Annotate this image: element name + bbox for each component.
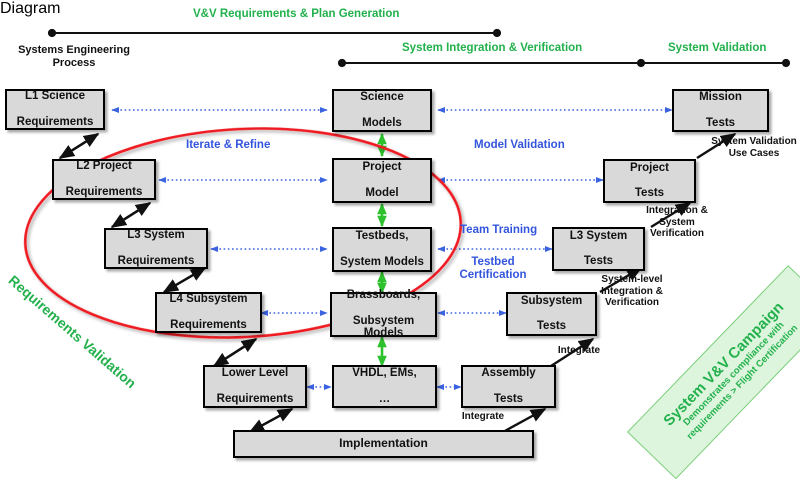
node-line1: Subsystem: [519, 295, 584, 308]
node-line2: Model: [361, 187, 404, 200]
node-line2: System Models: [338, 256, 426, 269]
systems-engineering-process-label: Systems Engineering Process: [4, 44, 144, 69]
node-line1: VHDL, EMs,: [350, 367, 419, 380]
node-line2: Requirements: [168, 319, 250, 332]
node-line1: Science: [358, 91, 405, 104]
node-line2: Requirements: [116, 255, 197, 268]
phase-label-system-integration: System Integration & Verification: [402, 42, 582, 55]
node-subsystem-tests[interactable]: Subsystem Tests: [506, 292, 597, 336]
node-line2: Requirements: [64, 186, 145, 199]
node-vhdl-ems[interactable]: VHDL, EMs, …: [332, 365, 437, 408]
annotation-team-training: Team Training: [460, 224, 537, 237]
annotation-system-level-integration-verification: System-level Integration & Verification: [586, 274, 678, 309]
node-mission-tests[interactable]: Mission Tests: [672, 89, 769, 132]
node-line2: Requirements: [215, 393, 296, 406]
node-l1-science-requirements[interactable]: L1 Science Requirements: [5, 89, 105, 130]
annotation-integration-system-verification: Integration & System Verification: [632, 205, 722, 240]
node-line1: Mission: [697, 91, 744, 104]
node-l2-project-requirements[interactable]: L2 Project Requirements: [52, 159, 156, 200]
node-line2: Tests: [519, 320, 584, 333]
node-label: Implementation: [337, 437, 430, 450]
annotation-testbed-certification: Testbed Certification: [447, 256, 539, 282]
phase-label-system-validation: System Validation: [668, 42, 766, 55]
node-project-model[interactable]: Project Model: [332, 158, 432, 203]
node-implementation[interactable]: Implementation: [233, 430, 534, 458]
node-assembly-tests[interactable]: Assembly Tests: [461, 365, 556, 408]
node-line1: L3 System: [116, 229, 197, 242]
node-line1: Brassboards,: [334, 289, 433, 302]
node-line2: Tests: [479, 393, 537, 406]
node-line1: Lower Level: [215, 367, 296, 380]
node-line2: Models: [358, 117, 405, 130]
node-l3-system-requirements[interactable]: L3 System Requirements: [104, 228, 208, 269]
node-l4-subsystem-requirements[interactable]: L4 Subsystem Requirements: [155, 292, 262, 333]
node-brassboards-subsystem-models[interactable]: Brassboards, Subsystem Models: [330, 292, 437, 337]
node-line2: Tests: [628, 187, 671, 200]
node-project-tests[interactable]: Project Tests: [603, 159, 696, 203]
node-line1: L1 Science: [15, 90, 96, 103]
node-line2: Subsystem Models: [334, 315, 433, 341]
annotation-integrate-upper: Integrate: [548, 345, 610, 357]
annotation-integrate-lower: Integrate: [452, 411, 514, 423]
annotation-model-validation: Model Validation: [474, 139, 565, 152]
node-line2: Requirements: [15, 116, 96, 129]
node-line1: L4 Subsystem: [168, 293, 250, 306]
node-line2: Tests: [568, 255, 630, 268]
node-line2: Tests: [697, 117, 744, 130]
node-testbeds-system-models[interactable]: Testbeds, System Models: [332, 227, 432, 272]
diagram-canvas: V&V Requirements & Plan Generation Syste…: [0, 0, 800, 464]
node-line1: Project: [628, 162, 671, 175]
node-line1: Testbeds,: [338, 230, 426, 243]
annotation-system-validation-use-cases: System Validation Use Cases: [706, 136, 800, 159]
node-line2: …: [350, 393, 419, 406]
annotation-iterate-refine: Iterate & Refine: [186, 139, 270, 152]
node-line1: Project: [361, 161, 404, 174]
node-line1: L3 System: [568, 230, 630, 243]
node-lower-level-requirements[interactable]: Lower Level Requirements: [203, 365, 307, 408]
node-science-models[interactable]: Science Models: [332, 89, 432, 132]
node-line1: Assembly: [479, 367, 537, 380]
node-line1: L2 Project: [64, 160, 145, 173]
phase-label-vv-requirements: V&V Requirements & Plan Generation: [193, 8, 399, 21]
